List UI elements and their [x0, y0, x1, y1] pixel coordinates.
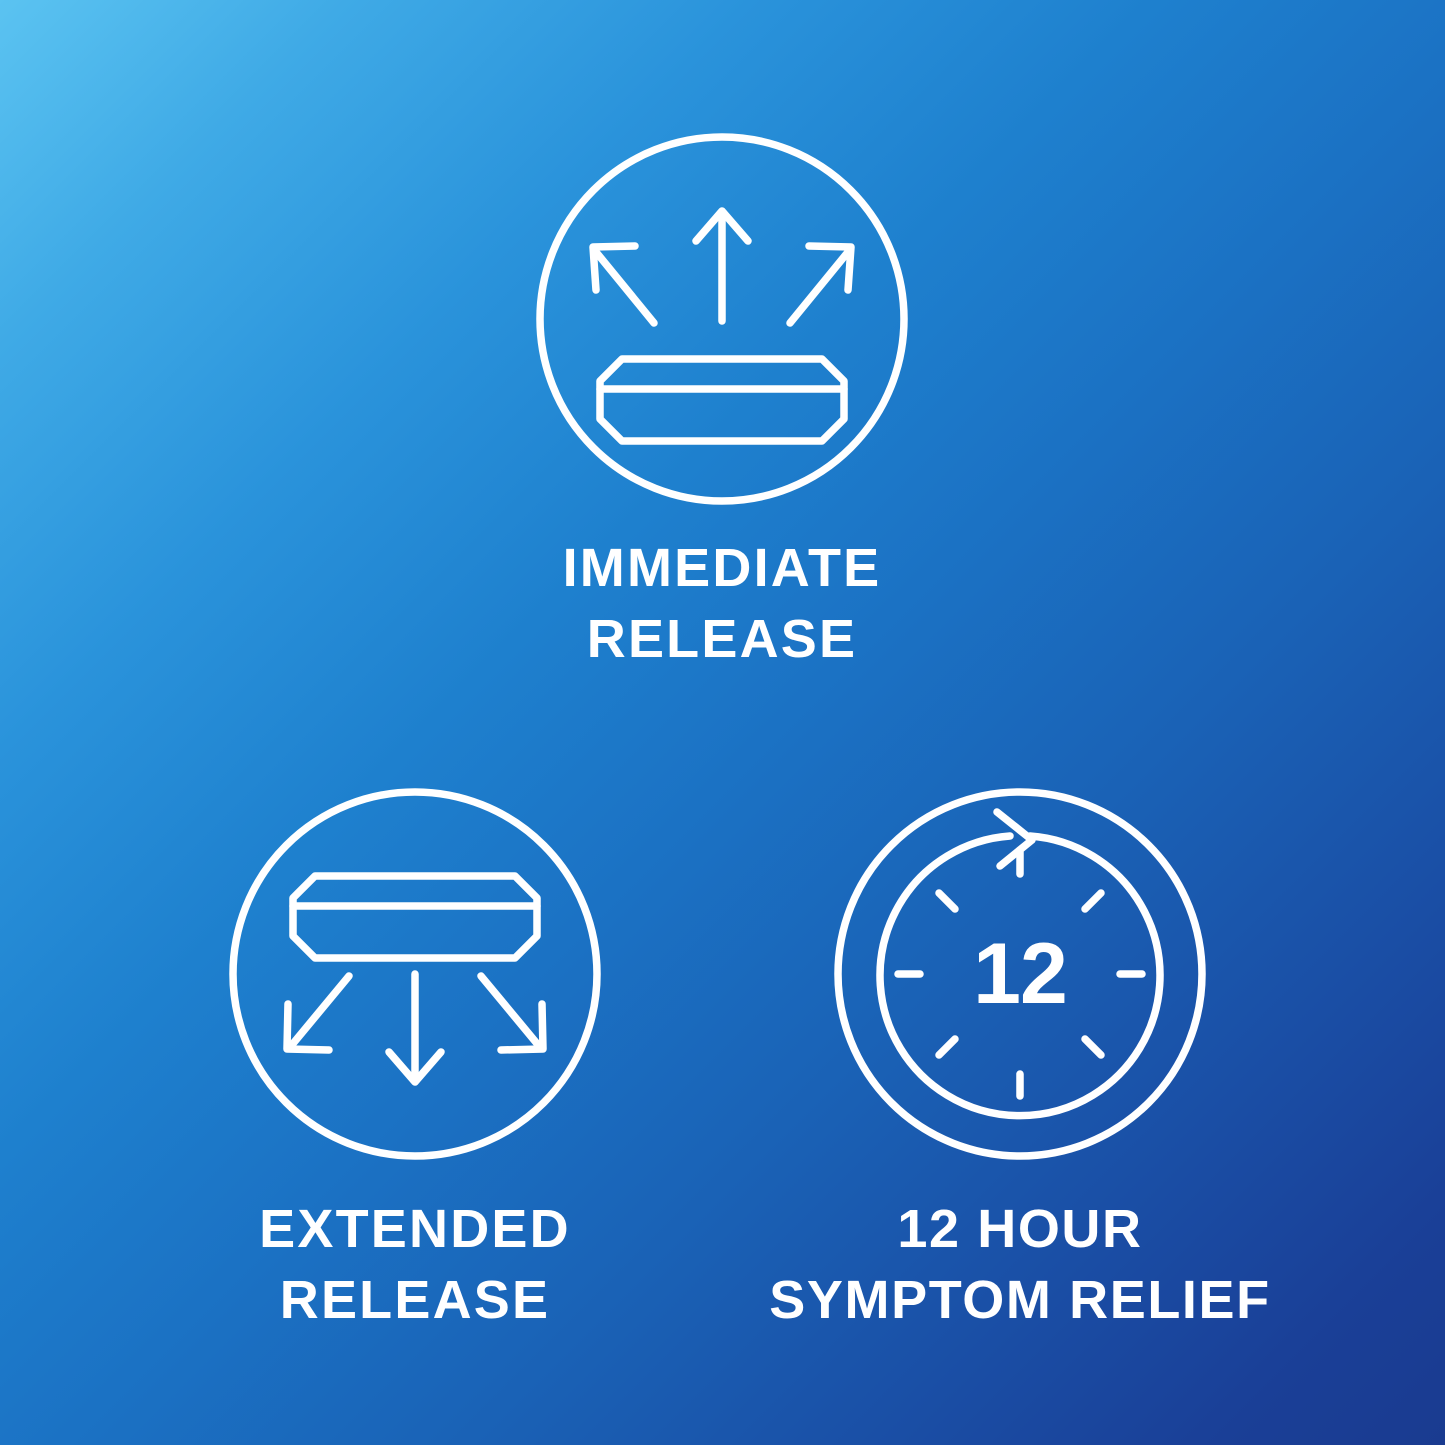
- feature-label-12-hour-symptom-relief: 12 HOUR SYMPTOM RELIEF: [769, 1194, 1270, 1337]
- clock-12-hour-icon: 12: [834, 788, 1206, 1160]
- pill-arrows-down-icon: [229, 788, 601, 1160]
- feature-label-immediate-release: IMMEDIATE RELEASE: [563, 533, 882, 676]
- product-benefits-poster: IMMEDIATE RELEASE: [0, 0, 1445, 1445]
- pill-arrows-up-icon: [536, 133, 908, 505]
- feature-immediate-release: IMMEDIATE RELEASE: [422, 133, 1022, 676]
- clock-number-12: 12: [973, 926, 1067, 1022]
- feature-extended-release: EXTENDED RELEASE: [115, 788, 715, 1337]
- feature-12-hour-symptom-relief: 12 12 HOUR SYMPTOM RELIEF: [720, 788, 1320, 1337]
- feature-label-extended-release: EXTENDED RELEASE: [259, 1194, 571, 1337]
